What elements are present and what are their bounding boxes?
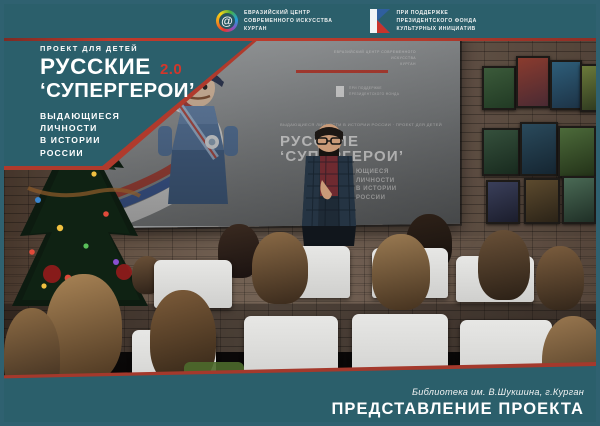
event-caption: ПРЕДСТАВЛЕНИЕ ПРОЕКТА	[331, 401, 584, 418]
project-version: 2.0	[160, 62, 182, 77]
logo-eurasian-text: ЕВРАЗИЙСКИЙ ЦЕНТР СОВРЕМЕННОГО ИСКУССТВА…	[244, 9, 332, 33]
audience-head	[372, 234, 430, 310]
framed-artworks	[480, 50, 596, 230]
audience-head	[252, 232, 308, 304]
frame-edge-right	[596, 0, 600, 426]
at-circle-logo-icon: @	[216, 10, 238, 32]
project-subtitle: ВЫДАЮЩИЕСЯ ЛИЧНОСТИ В ИСТОРИИ РОССИИ	[40, 110, 260, 159]
top-banner: @ ЕВРАЗИЙСКИЙ ЦЕНТР СОВРЕМЕННОГО ИСКУССТ…	[4, 4, 596, 38]
frame-edge-left	[0, 0, 4, 426]
poster: ЕВРАЗИЙСКИЙ ЦЕНТР СОВРЕМЕННОГО ИСКУССТВА…	[0, 0, 600, 426]
top-banner-red-rule	[4, 38, 596, 41]
venue-label: Библиотека им. В.Шукшина, г.Курган	[331, 387, 584, 397]
project-title-line2: ‘СУПЕРГЕРОИ’	[40, 81, 260, 102]
logo-eurasian-center: @ ЕВРАЗИЙСКИЙ ЦЕНТР СОВРЕМЕННОГО ИСКУССТ…	[216, 9, 332, 33]
title-panel-content: ПРОЕКТ ДЛЯ ДЕТЕЙ РУССКИЕ 2.0 ‘СУПЕРГЕРОИ…	[40, 44, 260, 159]
logo-presidential-fund: ПРИ ПОДДЕРЖКЕ ПРЕЗИДЕНТСКОГО ФОНДА КУЛЬТ…	[370, 9, 476, 33]
k-flag-logo-icon	[370, 9, 390, 33]
bottom-banner-content: Библиотека им. В.Шукшина, г.Курган ПРЕДС…	[331, 387, 584, 418]
project-kicker: ПРОЕКТ ДЛЯ ДЕТЕЙ	[40, 44, 260, 53]
audience-head	[536, 246, 584, 310]
frame-edge-top	[0, 0, 600, 4]
logo-fund-text: ПРИ ПОДДЕРЖКЕ ПРЕЗИДЕНТСКОГО ФОНДА КУЛЬТ…	[396, 9, 476, 33]
audience-head	[478, 230, 530, 300]
frame-edge-bottom	[0, 422, 600, 426]
project-title-line1: РУССКИЕ	[40, 56, 151, 79]
